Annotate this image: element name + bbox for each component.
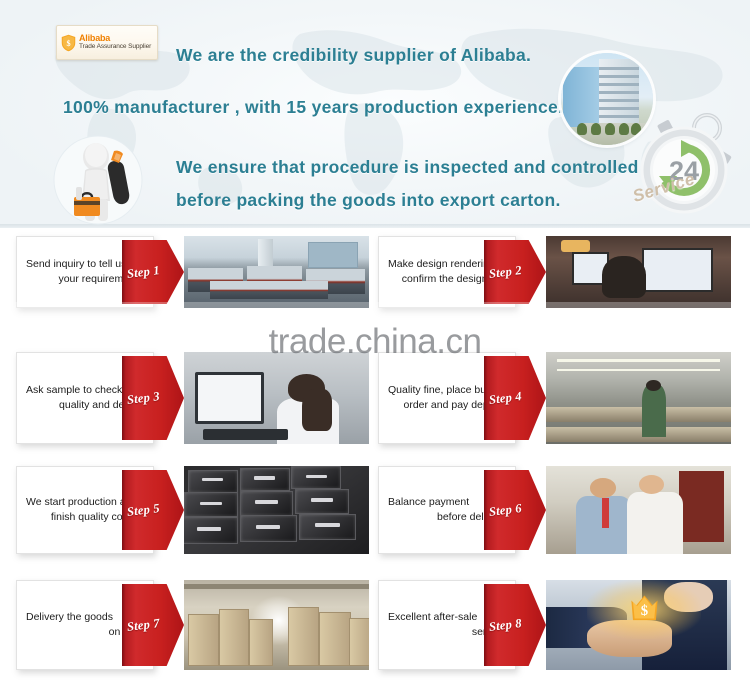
step-6-plate-wrap: Balance payment before delivery. Step 6 xyxy=(378,466,546,554)
step-5-arrow-tag: Step 5 xyxy=(122,470,184,550)
crown-dollar-icon: $ xyxy=(613,589,676,625)
step-2-photo xyxy=(546,236,731,308)
step-1-tag-label: Step 1 xyxy=(126,263,160,282)
step-7-photo xyxy=(184,580,369,670)
headline-line-3: We ensure that procedure is inspected an… xyxy=(176,157,639,178)
trade-assurance-badge[interactable]: $ Alibaba Trade Assurance Supplier xyxy=(56,25,158,60)
step-3-photo xyxy=(184,352,369,444)
step-5-photo xyxy=(184,466,369,554)
headline-line-2: 100% manufacturer , with 15 years produc… xyxy=(63,97,563,118)
step-1-photo xyxy=(184,236,369,308)
step-card-7[interactable]: Delivery the goods on time. Step 7 xyxy=(16,580,371,670)
step-card-4[interactable]: Quality fine, place bulk order and pay d… xyxy=(378,352,733,444)
step-7-arrow-tag: Step 7 xyxy=(122,584,184,666)
worker-with-wrench-icon xyxy=(52,135,144,225)
header-banner: $ Alibaba Trade Assurance Supplier We ar… xyxy=(0,0,750,228)
step-card-3[interactable]: Ask sample to check quality and details.… xyxy=(16,352,371,444)
step-card-1[interactable]: Send inquiry to tell us your requirement… xyxy=(16,236,371,308)
step-2-tag-label: Step 2 xyxy=(488,263,522,282)
step-5-plate-wrap: We start production and finish quality c… xyxy=(16,466,184,554)
step-card-8[interactable]: Excellent after-sale service. Step 8 $ xyxy=(378,580,733,670)
promo-banner-page: $ Alibaba Trade Assurance Supplier We ar… xyxy=(0,0,750,680)
step-7-plate-wrap: Delivery the goods on time. Step 7 xyxy=(16,580,184,670)
step-6-photo xyxy=(546,466,731,554)
svg-text:$: $ xyxy=(640,603,647,619)
step-4-plate-wrap: Quality fine, place bulk order and pay d… xyxy=(378,352,546,444)
step-3-tag-label: Step 3 xyxy=(126,389,160,408)
headline-line-4: before packing the goods into export car… xyxy=(176,190,561,211)
step-2-plate-wrap: Make design rendering to confirm the des… xyxy=(378,236,546,308)
step-6-tag-label: Step 6 xyxy=(488,501,522,520)
step-2-arrow-tag: Step 2 xyxy=(484,240,546,304)
step-card-5[interactable]: We start production and finish quality c… xyxy=(16,466,371,554)
step-6-arrow-tag: Step 6 xyxy=(484,470,546,550)
svg-text:$: $ xyxy=(66,39,70,48)
headline-line-1: We are the credibility supplier of Aliba… xyxy=(176,45,531,66)
step-8-plate-wrap: Excellent after-sale service. Step 8 xyxy=(378,580,546,670)
step-3-arrow-tag: Step 3 xyxy=(122,356,184,440)
step-5-tag-label: Step 5 xyxy=(126,501,160,520)
step-card-6[interactable]: Balance payment before delivery. Step 6 xyxy=(378,466,733,554)
shield-icon: $ xyxy=(61,34,76,52)
step-4-photo xyxy=(546,352,731,444)
step-3-plate-wrap: Ask sample to check quality and details.… xyxy=(16,352,184,444)
step-1-arrow-tag: Step 1 xyxy=(122,240,184,304)
step-card-2[interactable]: Make design rendering to confirm the des… xyxy=(378,236,733,308)
step-1-plate-wrap: Send inquiry to tell us your requirement… xyxy=(16,236,184,308)
step-8-tag-label: Step 8 xyxy=(488,616,522,635)
step-7-tag-label: Step 7 xyxy=(126,616,160,635)
process-steps-grid: Send inquiry to tell us your requirement… xyxy=(0,228,750,680)
badge-subtitle: Trade Assurance Supplier xyxy=(79,44,151,51)
step-4-arrow-tag: Step 4 xyxy=(484,356,546,440)
step-8-arrow-tag: Step 8 xyxy=(484,584,546,666)
step-4-tag-label: Step 4 xyxy=(488,389,522,408)
step-8-photo: $ xyxy=(546,580,731,670)
